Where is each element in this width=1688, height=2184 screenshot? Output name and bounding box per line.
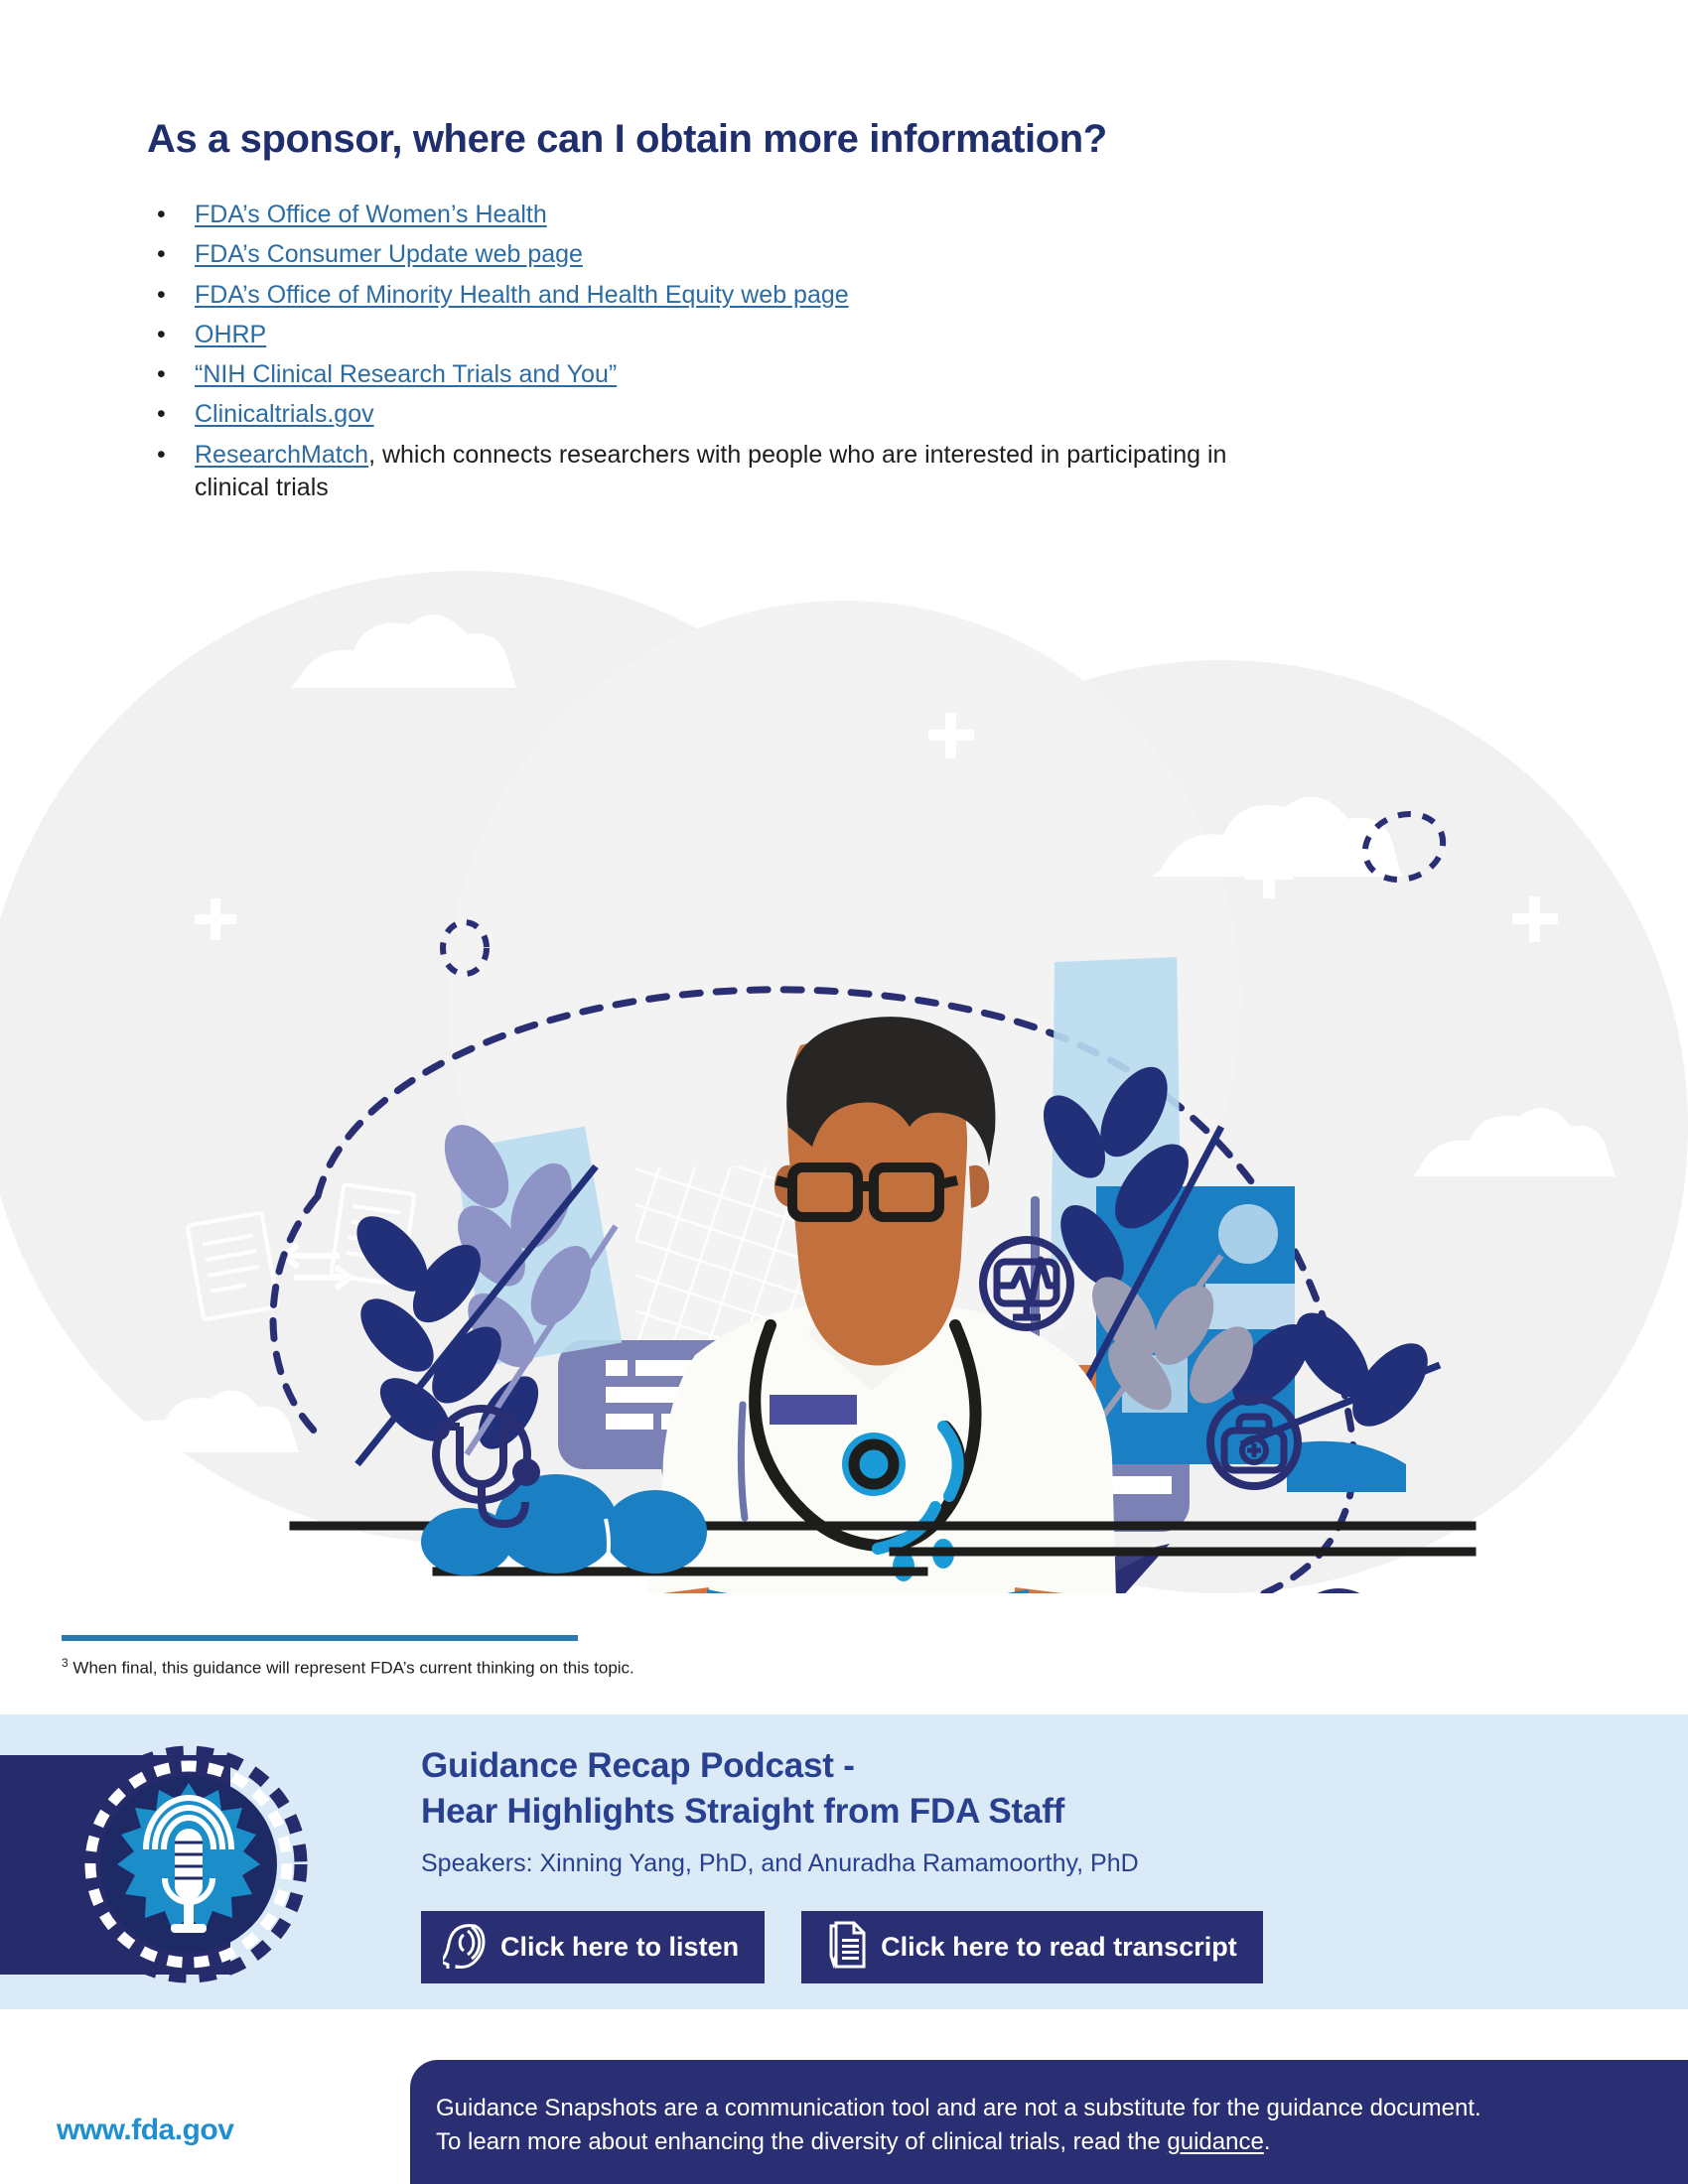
link-nih-clinical-research-trials[interactable]: “NIH Clinical Research Trials and You” xyxy=(195,360,617,388)
list-item: • Clinicaltrials.gov xyxy=(147,398,1289,431)
guidance-link[interactable]: guidance xyxy=(1167,2128,1263,2155)
document-page: As a sponsor, where can I obtain more in… xyxy=(0,0,1688,2184)
listen-button-label: Click here to listen xyxy=(500,1932,739,1963)
doctor-illustration xyxy=(0,571,1688,1593)
bullet-icon: • xyxy=(147,279,195,312)
list-item: • FDA’s Office of Minority Health and He… xyxy=(147,279,1289,312)
footnote-text: When final, this guidance will represent… xyxy=(69,1659,634,1678)
list-item-text: FDA’s Office of Women’s Health xyxy=(195,199,1289,231)
list-item-text: “NIH Clinical Research Trials and You” xyxy=(195,358,1289,391)
link-ohrp[interactable]: OHRP xyxy=(195,321,266,348)
list-item-text: FDA’s Office of Minority Health and Heal… xyxy=(195,279,1289,312)
footnote-divider xyxy=(62,1635,578,1641)
listen-button[interactable]: Click here to listen xyxy=(421,1911,765,1983)
list-item: • OHRP xyxy=(147,319,1289,351)
page-title: As a sponsor, where can I obtain more in… xyxy=(147,117,1107,162)
syringe-icon xyxy=(1295,1592,1382,1593)
list-item-text: ResearchMatch, which connects researcher… xyxy=(195,439,1289,505)
podcast-actions: Click here to listen Click here to read … xyxy=(421,1911,1263,1983)
podcast-heading-block: Guidance Recap Podcast - Hear Highlights… xyxy=(421,1743,1464,1878)
bullet-icon: • xyxy=(147,238,195,271)
footer-disclaimer-text: Guidance Snapshots are a communication t… xyxy=(436,2092,1481,2159)
footer-line-1: Guidance Snapshots are a communication t… xyxy=(436,2092,1481,2125)
bullet-icon: • xyxy=(147,439,195,472)
document-pen-icon xyxy=(823,1920,867,1975)
list-item: • FDA’s Consumer Update web page xyxy=(147,238,1289,271)
link-fda-consumer-update[interactable]: FDA’s Consumer Update web page xyxy=(195,240,583,268)
podcast-speakers: Speakers: Xinning Yang, PhD, and Anuradh… xyxy=(421,1849,1464,1878)
footer-line-2-pre: To learn more about enhancing the divers… xyxy=(436,2128,1167,2155)
podcast-title-line1: Guidance Recap Podcast - xyxy=(421,1743,1464,1789)
footer-line-2: To learn more about enhancing the divers… xyxy=(436,2125,1481,2159)
footer-disclaimer-box: Guidance Snapshots are a communication t… xyxy=(410,2060,1688,2184)
resource-links-list: • FDA’s Office of Women’s Health • FDA’s… xyxy=(147,199,1289,511)
bullet-icon: • xyxy=(147,398,195,431)
transcript-button[interactable]: Click here to read transcript xyxy=(801,1911,1263,1983)
list-item: • “NIH Clinical Research Trials and You” xyxy=(147,358,1289,391)
list-item: • ResearchMatch, which connects research… xyxy=(147,439,1289,505)
bullet-icon: • xyxy=(147,199,195,231)
list-item: • FDA’s Office of Women’s Health xyxy=(147,199,1289,231)
bullet-icon: • xyxy=(147,319,195,351)
list-item-text: FDA’s Consumer Update web page xyxy=(195,238,1289,271)
list-item-text: Clinicaltrials.gov xyxy=(195,398,1289,431)
footer-line-2-post: . xyxy=(1264,2128,1271,2155)
list-item-text: OHRP xyxy=(195,319,1289,351)
podcast-microphone-badge-icon xyxy=(70,1745,308,1983)
link-researchmatch[interactable]: ResearchMatch xyxy=(195,441,368,469)
transcript-button-label: Click here to read transcript xyxy=(881,1932,1237,1963)
podcast-title-line2: Hear Highlights Straight from FDA Staff xyxy=(421,1789,1464,1835)
link-clinicaltrials-gov[interactable]: Clinicaltrials.gov xyxy=(195,400,374,428)
footnote: 3 When final, this guidance will represe… xyxy=(62,1656,634,1679)
footnote-marker: 3 xyxy=(62,1656,69,1670)
head-audio-icon xyxy=(443,1921,487,1974)
fda-website-link[interactable]: www.fda.gov xyxy=(57,2114,233,2147)
bullet-icon: • xyxy=(147,358,195,391)
link-fda-minority-health[interactable]: FDA’s Office of Minority Health and Heal… xyxy=(195,281,849,309)
link-fda-office-womens-health[interactable]: FDA’s Office of Women’s Health xyxy=(195,201,547,228)
